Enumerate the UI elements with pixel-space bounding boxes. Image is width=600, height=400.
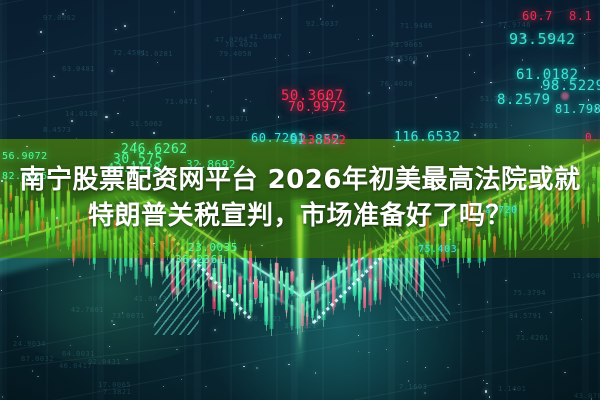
sparkle-dot: [207, 105, 209, 107]
sparkle-dot: [424, 392, 426, 394]
ticker-value: 64.0031: [62, 350, 95, 358]
ticker-value: 73.0065: [390, 41, 423, 49]
sparkle-dot: [398, 59, 400, 61]
sparkle-dot: [368, 92, 370, 94]
sparkle-dot: [564, 372, 565, 373]
ticker-value: 41.0047: [249, 33, 282, 41]
sparkle-dot: [549, 35, 551, 37]
sparkle-dot: [111, 132, 112, 133]
ticker-value: 76.4028: [380, 80, 413, 88]
ticker-value: 14.0138: [65, 110, 98, 118]
sparkle-dot: [522, 59, 523, 60]
ticker-value: 60.7: [522, 9, 553, 23]
sparkle-dot: [79, 276, 80, 277]
ticker-value: 8.1: [569, 9, 592, 23]
ticker-value: 1.1401: [498, 385, 526, 393]
sparkle-dot: [245, 99, 246, 100]
ticker-value: 31.5062: [130, 120, 163, 128]
ticker-value: 7.1603: [399, 383, 427, 391]
headline-overlay: 南宁股票配资网平台 2026年初美最高法院或就 特朗普关税宣判，市场准备好了吗？: [0, 139, 600, 258]
ticker-value: 37.4121: [284, 322, 317, 330]
sparkle-dot: [156, 304, 157, 305]
sparkle-dot: [122, 312, 123, 313]
sparkle-dot: [581, 319, 582, 320]
sparkle-dot: [53, 76, 54, 77]
sparkle-dot: [37, 376, 38, 377]
sparkle-dot: [126, 359, 127, 360]
ticker-value: 41.0043: [134, 295, 167, 303]
ticker-value: 93.5942: [509, 30, 576, 48]
sparkle-dot: [469, 54, 470, 55]
sparkle-dot: [223, 79, 224, 80]
sparkle-dot: [315, 372, 316, 373]
sparkle-dot: [111, 70, 112, 71]
ticker-value: 8.2579: [497, 92, 551, 108]
sparkle-dot: [210, 116, 211, 117]
sparkle-dot: [176, 349, 177, 350]
sparkle-dot: [474, 134, 475, 135]
sparkle-dot: [320, 18, 321, 19]
headline-line-2: 特朗普关税宣判，市场准备好了吗？: [88, 202, 512, 231]
sparkle-dot: [197, 267, 198, 268]
ticker-value: 73.0071: [112, 312, 145, 320]
sparkle-dot: [224, 298, 225, 299]
sparkle-dot: [435, 97, 436, 98]
sparkle-dot: [481, 22, 482, 23]
ticker-value: 24.9034: [13, 340, 46, 348]
ticker-value: 42.7801: [71, 306, 104, 314]
ticker-value: 84.5791: [509, 312, 542, 320]
sparkle-dot: [243, 366, 244, 367]
sparkle-dot: [111, 320, 113, 322]
sparkle-dot: [458, 304, 459, 305]
ticker-value: 70.4026: [225, 41, 258, 49]
banner-image: 97.096241.004792.403747.020477.974671.94…: [0, 0, 600, 400]
ticker-value: 63.0481: [62, 65, 95, 73]
ticker-value: 8.4573: [43, 126, 71, 134]
ticker-value: 2.2601: [470, 122, 498, 130]
ticker-value: 79.4058: [219, 50, 252, 58]
sparkle-dot: [550, 312, 551, 313]
ticker-value: 18.0421: [406, 315, 439, 323]
sparkle-dot: [486, 383, 487, 384]
sparkle-dot: [105, 116, 107, 118]
ticker-value: 43.0703: [574, 392, 600, 400]
ticker-value: 70.9972: [288, 100, 346, 115]
ticker-value: 71.0471: [165, 98, 198, 106]
sparkle-dot: [235, 265, 236, 266]
sparkle-dot: [541, 86, 542, 87]
sparkle-dot: [62, 13, 63, 14]
sparkle-dot: [391, 57, 392, 58]
ticker-value: 97.0962: [43, 14, 76, 22]
headline-line-1: 南宁股票配资网平台 2026年初美最高法院或就: [20, 166, 581, 195]
sparkle-dot: [312, 112, 313, 113]
sparkle-dot: [326, 98, 327, 99]
sparkle-dot: [275, 58, 276, 59]
ticker-value: 92.4037: [306, 20, 339, 28]
ticker-value: 7.3821: [103, 388, 131, 396]
sparkle-dot: [18, 115, 19, 116]
ticker-value: 87.0032: [21, 355, 54, 363]
ticker-value: 71.9486: [400, 22, 433, 30]
ticker-value: 92.0431: [88, 358, 121, 366]
ticker-value: 75.3794: [513, 289, 546, 297]
sparkle-dot: [523, 35, 524, 36]
ticker-value: 51.0281: [140, 50, 173, 58]
sparkle-dot: [2, 396, 3, 397]
sparkle-dot: [505, 280, 506, 281]
sparkle-dot: [447, 367, 448, 368]
sparkle-dot: [115, 29, 116, 30]
sparkle-dot: [344, 277, 345, 278]
ticker-value: 58.0021: [249, 315, 282, 323]
ticker-value: 63.0371: [216, 115, 249, 123]
sparkle-dot: [376, 9, 377, 10]
ticker-value: 11.4003: [572, 272, 600, 280]
sparkle-dot: [417, 329, 418, 330]
ticker-value: 71.4201: [516, 334, 549, 342]
sparkle-dot: [250, 101, 251, 102]
sparkle-dot: [584, 67, 585, 68]
sparkle-dot: [482, 331, 483, 332]
sparkle-dot: [71, 120, 73, 122]
ticker-value: 81.798: [555, 102, 600, 116]
sparkle-dot: [413, 61, 415, 63]
